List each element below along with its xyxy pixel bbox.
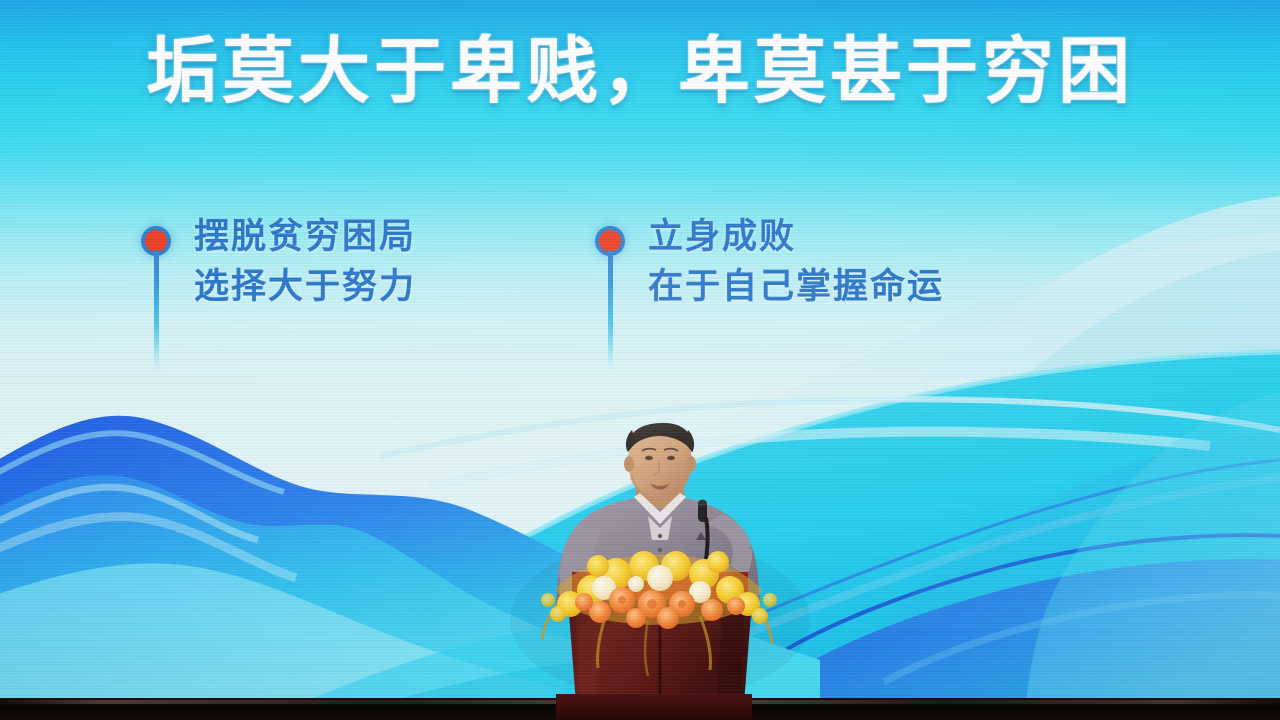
podium-base-shadow <box>556 694 752 720</box>
screenshot-root: 垢莫大于卑贱，卑莫甚于穷困 摆脱贫穷困局 选择大于努力 立身成败 在于自己掌握命… <box>0 0 1280 720</box>
speaker-podium-group <box>0 0 1280 720</box>
